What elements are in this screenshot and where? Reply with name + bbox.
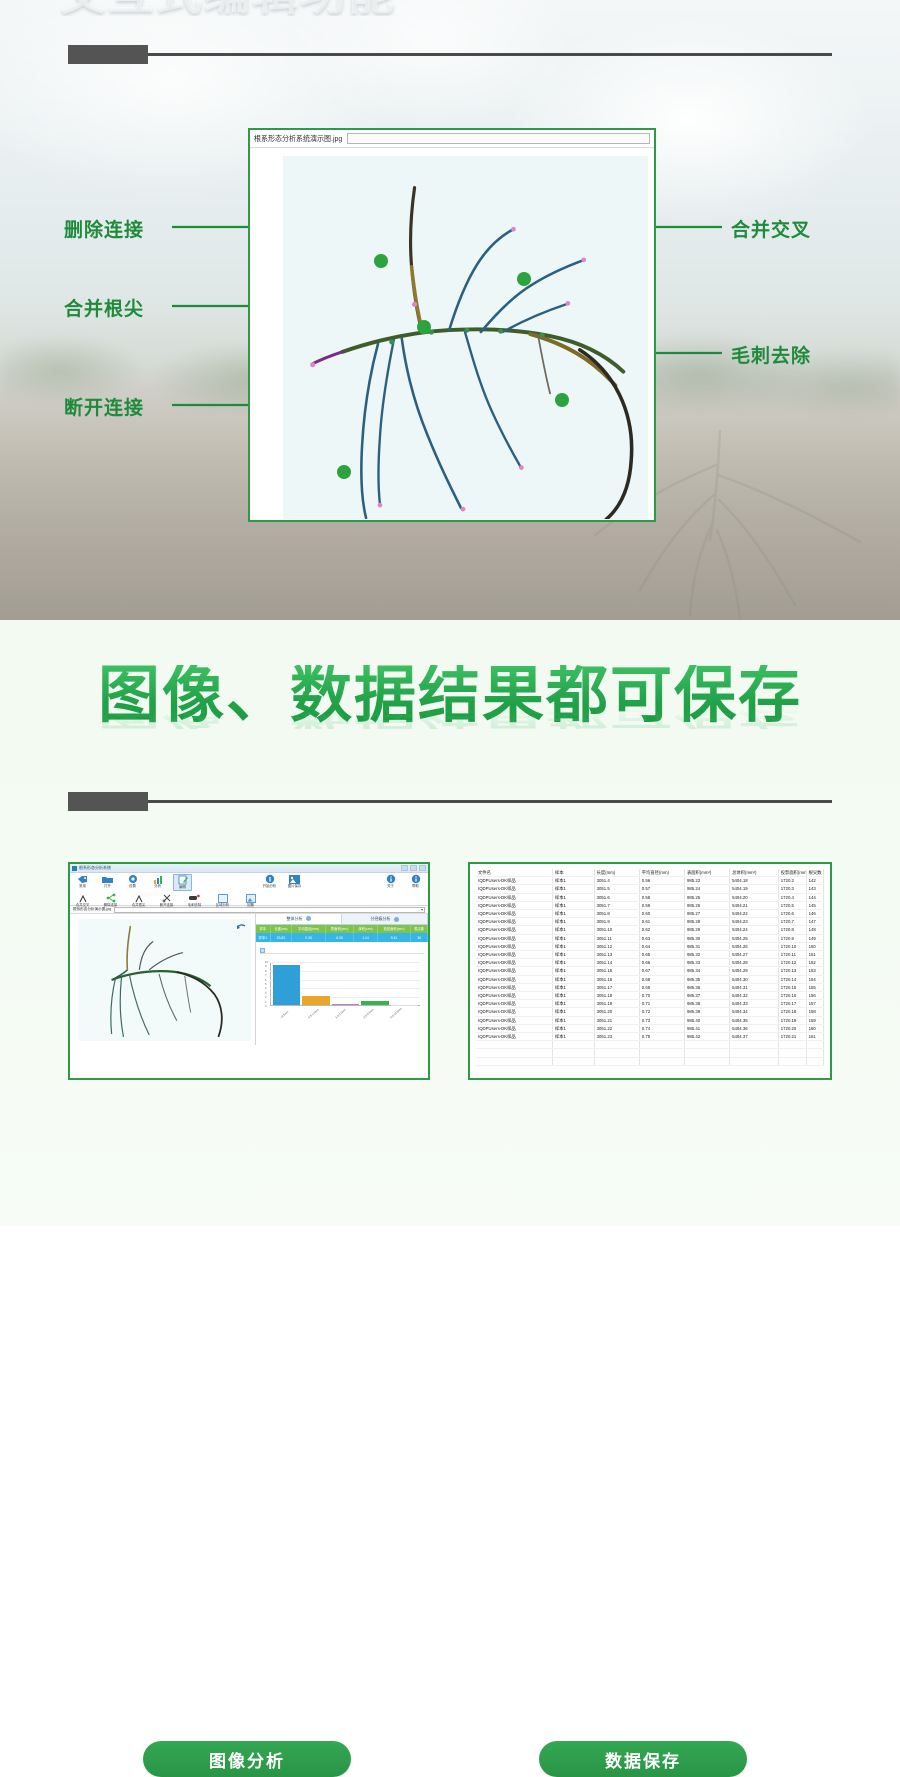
ribbon-label: 常用 [73,884,92,889]
data-cell-empty [806,1041,823,1049]
data-cell: 3051.22 [594,1024,639,1032]
data-cell-empty [552,1049,594,1057]
overall-result-table: 样本 长度(cm) 平均直径(mm) 表面积(cm²) 体积(cm³) 投影面积… [256,925,428,942]
data-cell-empty [552,1057,594,1065]
data-cell-empty [594,1041,639,1049]
marker-remove-burr[interactable] [555,393,569,407]
root-editor-window[interactable]: 根系形态分析系统演示图.jpg [248,128,656,522]
col-projected-area: 投影面积(cm²) [377,925,411,933]
chart-y-tick: 7 [265,975,266,978]
section-divider-bottom [68,800,832,803]
data-cell: 样本1 [552,942,594,950]
annotation-label-merge-crossing: 合并交叉 [731,215,811,242]
data-cell-empty [778,1057,806,1065]
tab-label: 分径级分析 [371,916,391,922]
data-cell: 143 [806,885,823,893]
chart-y-tick: 9 [265,966,266,969]
table-row[interactable]: IQDPUsers-DK样品样本13051.120.64985.315404.2… [476,942,824,950]
data-cell: 1720.12 [778,959,806,967]
data-cell: 985.27 [684,910,729,918]
chart-bars [273,962,418,1005]
headline-block: 图像、数据结果都可保存 图像、数据结果都可保存 [0,665,900,791]
data-cell: 1720.6 [778,910,806,918]
chart-y-tick: 1 [265,1002,266,1005]
data-cell: 147 [806,918,823,926]
data-cell: 3051.17 [594,983,639,991]
marker-delete-connection[interactable] [374,254,388,268]
data-cell: 153 [806,967,823,975]
tab-overall-analysis[interactable]: 整体分析 [256,914,342,924]
data-cell: 0.70 [639,992,684,1000]
data-cell: IQDPUsers-DK样品 [476,975,552,983]
data-cell: 0.56 [639,877,684,885]
data-cell: 1720.20 [778,1024,806,1032]
data-cell: IQDPUsers-DK样品 [476,1024,552,1032]
hero-title-text: 交互式编辑功能 [60,0,580,16]
chart-x-ticklabels: <0.5mm0.5-1.0mm1.0-2.0mm2.0-5.0mm5.0-10.… [280,1017,416,1020]
hero-title-clipped: 交互式编辑功能 [60,0,580,16]
circle-info-icon [260,874,279,884]
chart-y-axis [270,962,271,1006]
table-row[interactable]: IQDPUsers-DK样品样本13051.200.72985.395404.3… [476,1008,824,1016]
data-cell: 985.24 [684,885,729,893]
split-icon [73,893,92,903]
chart-y-tick: 3 [265,993,266,996]
table-row-empty[interactable] [476,1049,824,1057]
close-icon[interactable] [419,865,426,871]
window-controls[interactable] [401,865,426,871]
data-cell: 5404.28 [730,959,779,967]
data-cell: 151 [806,951,823,959]
data-cell: 5404.24 [730,926,779,934]
data-cell: 1720.11 [778,951,806,959]
annotation-label-merge-root-tip: 合并根尖 [64,294,144,321]
data-cell-empty [552,1041,594,1049]
section-divider-top [68,53,832,56]
cell-sample: 样本1 [256,933,270,942]
data-cell-empty [594,1057,639,1065]
data-cell: 样本1 [552,1024,594,1032]
data-table-body[interactable]: IQDPUsers-DK样品样本13051.40.56985.235404.18… [476,877,824,1066]
data-cell: IQDPUsers-DK样品 [476,885,552,893]
tag-icon [73,874,92,884]
data-cell: 样本1 [552,975,594,983]
results-tabs[interactable]: 整体分析 分径级分析 [256,914,428,925]
col-volume: 体积(cm³) [354,925,377,933]
divider-block [68,45,148,64]
data-cell-empty [684,1057,729,1065]
data-cell: 样本1 [552,1008,594,1016]
data-col-header: 表面积(mm²) [684,869,729,877]
data-cell: 3051.21 [594,1016,639,1024]
app-ribbon[interactable]: 常用 打开 设置 分析 [70,873,428,906]
cell-length: 23.82 [270,933,292,942]
save-results-section: 图像、数据结果都可保存 图像、数据结果都可保存 根系形态分析系统 [0,620,900,1226]
data-cell: 3051.18 [594,992,639,1000]
search-icon [394,917,399,922]
annotation-label-remove-burr: 毛刺去除 [731,341,811,368]
data-cell: 3051.10 [594,926,639,934]
data-col-header: 投影面积(mm²) [778,869,806,877]
table-row-empty[interactable] [476,1041,824,1049]
cell-tip-count: 36 [411,933,428,942]
data-cell: 149 [806,934,823,942]
data-cell: 1720.18 [778,1008,806,1016]
file-select-dropdown[interactable] [114,907,425,913]
image-analysis-button[interactable]: 图像分析 [143,1741,351,1777]
button-label: 图像分析 [209,1747,285,1772]
frame-icon [213,893,232,903]
data-cell: 1720.21 [778,1033,806,1041]
data-table-header: 文件名样本长度(mm)平均直径(mm)表面积(mm²)总体积(mm³)投影面积(… [476,869,824,877]
table-row[interactable]: IQDPUsers-DK样品样本13051.220.74985.415404.3… [476,1024,824,1032]
table-row[interactable]: IQDPUsers-DK样品样本13051.100.62985.295404.2… [476,926,824,934]
table-row[interactable]: IQDPUsers-DK样品样本13051.170.69985.365404.3… [476,983,824,991]
data-cell: 1720.3 [778,885,806,893]
divider-block-2 [68,792,148,811]
data-cell: IQDPUsers-DK样品 [476,934,552,942]
ribbon-label: 设置 [123,884,142,889]
page-headline-reflection: 图像、数据结果都可保存 [98,699,802,729]
gear-icon [123,874,142,884]
data-cell: 5404.23 [730,918,779,926]
eraser-icon [185,893,204,903]
data-cell: 3051.9 [594,918,639,926]
data-cell: 985.35 [684,975,729,983]
data-cell: 样本1 [552,1033,594,1041]
data-cell: 1720.19 [778,1016,806,1024]
table-row[interactable]: IQDPUsers-DK样品样本13051.80.60985.275404.22… [476,910,824,918]
data-cell-empty [806,1057,823,1065]
diameter-class-bar-chart: 109876543210 <0.5mm0.5-1.0mm1.0-2.0mm2.0… [270,962,420,1006]
chart-y-tick: 6 [265,980,266,983]
data-cell: 0.68 [639,975,684,983]
search-icon [306,916,311,921]
table-row[interactable]: IQDPUsers-DK样品样本13051.140.66985.335404.2… [476,959,824,967]
data-cell-empty [639,1057,684,1065]
data-cell: 985.32 [684,951,729,959]
data-cell: 样本1 [552,1000,594,1008]
data-cell: 159 [806,1016,823,1024]
data-cell: 5404.33 [730,1000,779,1008]
data-cell: 5404.29 [730,967,779,975]
data-cell: 0.73 [639,1016,684,1024]
data-cell: 3051.19 [594,1000,639,1008]
data-cell: 样本1 [552,1016,594,1024]
chart-zone: 109876543210 <0.5mm0.5-1.0mm1.0-2.0mm2.0… [256,942,428,1045]
data-cell-empty [778,1049,806,1057]
data-cell: 161 [806,1033,823,1041]
data-cell-empty [778,1041,806,1049]
ribbon-button-analysis[interactable]: 分析 [148,874,167,889]
data-col-header: 样本 [552,869,594,877]
data-cell: 5404.18 [730,877,779,885]
data-cell: 1720.13 [778,967,806,975]
data-cell-empty [806,1049,823,1057]
maximize-icon[interactable] [410,865,417,871]
data-cell: IQDPUsers-DK样品 [476,942,552,950]
data-cell: 5404.22 [730,910,779,918]
data-cell: 1720.2 [778,877,806,885]
table-row[interactable]: IQDPUsers-DK样品样本13051.210.73985.405404.3… [476,1016,824,1024]
app-file-path-bar[interactable]: 根系形态分析演示图.jpg [70,906,428,914]
data-cell: 5404.27 [730,951,779,959]
data-cell: 142 [806,877,823,885]
data-cell-empty [684,1049,729,1057]
table-row[interactable]: IQDPUsers-DK样品样本13051.230.75985.425404.3… [476,1033,824,1041]
ribbon-label: 分析 [148,884,167,889]
ribbon-label: 关于 [381,884,400,889]
ribbon-button-about[interactable]: 关于 [381,874,400,889]
data-cell: 5404.34 [730,1008,779,1016]
data-cell: 985.28 [684,918,729,926]
table-row[interactable]: IQDPUsers-DK样品样本13051.60.58985.255404.20… [476,893,824,901]
data-save-screenshot[interactable]: 文件名样本长度(mm)平均直径(mm)表面积(mm²)总体积(mm³)投影面积(… [468,862,832,1080]
data-cell-empty [639,1041,684,1049]
data-cell: 146 [806,910,823,918]
col-avg-diameter: 平均直径(mm) [292,925,326,933]
tab-diameter-class-analysis[interactable]: 分径级分析 [342,914,428,924]
data-cell: IQDPUsers-DK样品 [476,901,552,909]
data-cell: IQDPUsers-DK样品 [476,893,552,901]
data-cell: 3051.8 [594,910,639,918]
app-main-body: 整体分析 分径级分析 样本 长度(cm) 平均直径(mm) [70,914,428,1045]
marker-break-connection[interactable] [337,465,351,479]
chart-bar [361,1001,388,1005]
data-cell: 样本1 [552,918,594,926]
cell-volume: 1.14 [354,933,377,942]
bar-chart-icon [148,874,167,884]
ribbon-button-save-image[interactable]: 图片保存 [285,874,304,889]
chart-toolbar[interactable] [260,948,424,954]
data-cell: 148 [806,926,823,934]
merge-icon [129,893,148,903]
data-cell: 0.60 [639,910,684,918]
exported-data-table[interactable]: 文件名样本长度(mm)平均直径(mm)表面积(mm²)总体积(mm³)投影面积(… [476,869,824,1066]
data-cell: 1720.15 [778,983,806,991]
help-icon [406,874,425,884]
data-cell: 样本1 [552,983,594,991]
data-cell: 150 [806,942,823,950]
chart-y-tick: 2 [265,997,266,1000]
data-cell: 样本1 [552,885,594,893]
undo-arrow-icon[interactable] [237,923,246,931]
data-cell: 3051.23 [594,1033,639,1041]
data-cell: 5404.32 [730,992,779,1000]
table-row-empty[interactable] [476,1057,824,1065]
data-cell: 样本1 [552,910,594,918]
data-cell: 1720.4 [778,893,806,901]
data-cell: 985.25 [684,893,729,901]
table-row[interactable]: IQDPUsers-DK样品样本13051.70.59985.265404.21… [476,901,824,909]
image-analysis-screenshot[interactable]: 根系形态分析系统 常用 打开 [68,862,430,1080]
data-cell: 160 [806,1024,823,1032]
data-cell: 985.29 [684,926,729,934]
data-col-header: 总体积(mm³) [730,869,779,877]
data-cell-empty [476,1049,552,1057]
ribbon-button-start-analysis[interactable]: 开始分析 [260,874,279,889]
ribbon-row-editing-tools[interactable]: 合并交叉 删除连接 合并根尖 [70,891,428,908]
data-cell: IQDPUsers-DK样品 [476,967,552,975]
data-cell: 0.74 [639,1024,684,1032]
data-cell: 3051.7 [594,901,639,909]
data-cell: 样本1 [552,877,594,885]
data-cell: 0.75 [639,1033,684,1041]
table-row[interactable]: IQDPUsers-DK样品样本13051.160.68985.355404.3… [476,975,824,983]
data-cell: 样本1 [552,893,594,901]
table-row[interactable]: IQDPUsers-DK样品样本13051.190.71985.385404.3… [476,1000,824,1008]
data-cell: 985.38 [684,1000,729,1008]
data-cell: 985.37 [684,992,729,1000]
data-cell: 样本1 [552,901,594,909]
data-cell: 0.65 [639,951,684,959]
table-row[interactable]: IQDPUsers-DK样品样本13051.110.63985.305404.2… [476,934,824,942]
editor-image-area[interactable] [283,156,648,519]
data-cell: IQDPUsers-DK样品 [476,926,552,934]
data-cell: 145 [806,901,823,909]
ribbon-label: 帮助 [406,884,425,889]
col-tip-count: 根尖数 [411,925,428,933]
data-cell: 0.58 [639,893,684,901]
table-row[interactable]: IQDPUsers-DK样品样本13051.90.61985.285404.23… [476,918,824,926]
table-row[interactable]: IQDPUsers-DK样品样本13051.180.70985.375404.3… [476,992,824,1000]
editor-canvas[interactable] [250,148,654,519]
data-cell: 985.33 [684,959,729,967]
data-cell: 0.66 [639,959,684,967]
chart-export-icon[interactable] [260,948,265,953]
ribbon-label: 编辑 [174,885,191,890]
editor-file-combobox[interactable] [347,133,650,144]
app-results-pane: 整体分析 分径级分析 样本 长度(cm) 平均直径(mm) [256,914,428,1045]
data-cell: 1720.5 [778,901,806,909]
share-icon [101,893,120,903]
chart-bar [273,965,300,1005]
ribbon-label: 开始分析 [260,884,279,889]
data-cell: 1720.9 [778,934,806,942]
data-cell: 0.69 [639,983,684,991]
ribbon-button-settings[interactable]: 设置 [123,874,142,889]
marker-merge-crossing[interactable] [517,272,531,286]
data-cell: IQDPUsers-DK样品 [476,877,552,885]
data-cell-empty [639,1049,684,1057]
data-cell: 3051.11 [594,934,639,942]
data-cell: 5404.26 [730,942,779,950]
app-title-text: 根系形态分析系统 [79,865,111,871]
ribbon-button-edit[interactable]: 编辑 [173,874,192,891]
picture-icon [241,893,260,903]
ribbon-button-common[interactable]: 常用 [73,874,92,889]
data-cell: 样本1 [552,951,594,959]
folder-icon [98,874,117,884]
help-icon [381,874,400,884]
table-row[interactable]: IQDPUsers-DK样品样本13051.40.56985.235404.18… [476,877,824,885]
chart-y-tick: 8 [265,971,266,974]
data-cell: 157 [806,1000,823,1008]
data-cell-empty [730,1057,779,1065]
data-cell: 3051.5 [594,885,639,893]
button-label: 数据保存 [605,1747,681,1772]
data-cell: 3051.12 [594,942,639,950]
table-row[interactable]: 样本1 23.82 0.36 6.05 1.14 9.41 36 [256,933,428,942]
ribbon-button-open[interactable]: 打开 [98,874,117,889]
data-table-header-row: 文件名样本长度(mm)平均直径(mm)表面积(mm²)总体积(mm³)投影面积(… [476,869,824,877]
data-cell: 985.26 [684,901,729,909]
data-cell: 985.34 [684,967,729,975]
data-cell: 5404.30 [730,975,779,983]
app-logo-icon [72,866,77,871]
data-cell: IQDPUsers-DK样品 [476,1033,552,1041]
data-cell: 158 [806,1008,823,1016]
data-cell: 144 [806,893,823,901]
ribbon-label: 图片保存 [285,884,304,889]
data-cell-empty [730,1041,779,1049]
data-cell: IQDPUsers-DK样品 [476,1008,552,1016]
data-cell: IQDPUsers-DK样品 [476,959,552,967]
app-image-viewer[interactable] [70,914,256,1045]
data-cell-empty [476,1057,552,1065]
table-row[interactable]: IQDPUsers-DK样品样本13051.130.65985.325404.2… [476,951,824,959]
editor-toolbar: 根系形态分析系统演示图.jpg [250,130,654,148]
data-cell: 3051.14 [594,959,639,967]
data-cell: 5404.19 [730,885,779,893]
app-file-path-label: 根系形态分析演示图.jpg [73,907,111,912]
chart-y-tick: 0 [265,1006,266,1009]
data-cell: 152 [806,959,823,967]
data-cell: 1720.17 [778,1000,806,1008]
data-cell: 985.36 [684,983,729,991]
data-cell: 985.31 [684,942,729,950]
data-cell: 样本1 [552,992,594,1000]
data-cell: 样本1 [552,967,594,975]
marker-merge-root-tip[interactable] [417,320,431,334]
data-save-button[interactable]: 数据保存 [539,1741,747,1777]
data-cell: IQDPUsers-DK样品 [476,951,552,959]
data-cell: 5404.21 [730,901,779,909]
ribbon-row-primary[interactable]: 常用 打开 设置 分析 [70,873,428,891]
col-sample: 样本 [256,925,270,933]
col-length: 长度(cm) [270,925,292,933]
data-cell-empty [730,1049,779,1057]
data-cell-empty [594,1049,639,1057]
table-row[interactable]: IQDPUsers-DK样品样本13051.150.67985.345404.2… [476,967,824,975]
data-cell: 1720.7 [778,918,806,926]
data-cell: 0.63 [639,934,684,942]
editor-file-label: 根系形态分析系统演示图.jpg [254,133,342,144]
data-cell: 样本1 [552,934,594,942]
data-col-header: 文件名 [476,869,552,877]
app-viewer-canvas[interactable] [78,919,251,1041]
data-cell: 5404.37 [730,1033,779,1041]
data-cell: IQDPUsers-DK样品 [476,992,552,1000]
data-cell: 5404.25 [730,934,779,942]
data-cell: 1720.10 [778,942,806,950]
ribbon-button-help[interactable]: 帮助 [406,874,425,889]
data-cell: 0.72 [639,1008,684,1016]
data-cell: 985.40 [684,1016,729,1024]
data-cell: 0.67 [639,967,684,975]
col-surface-area: 表面积(cm²) [325,925,353,933]
table-row[interactable]: IQDPUsers-DK样品样本13051.50.57985.245404.19… [476,885,824,893]
root-skeleton-graphic [283,156,648,519]
cell-avg-diameter: 0.36 [292,933,326,942]
app-title-bar: 根系形态分析系统 [70,864,428,873]
tool-merge-crossing[interactable]: 合并交叉 [73,893,92,908]
data-cell: 3051.6 [594,893,639,901]
data-cell: IQDPUsers-DK样品 [476,918,552,926]
data-cell: 5404.31 [730,983,779,991]
minimize-icon[interactable] [401,865,408,871]
data-cell: 156 [806,992,823,1000]
